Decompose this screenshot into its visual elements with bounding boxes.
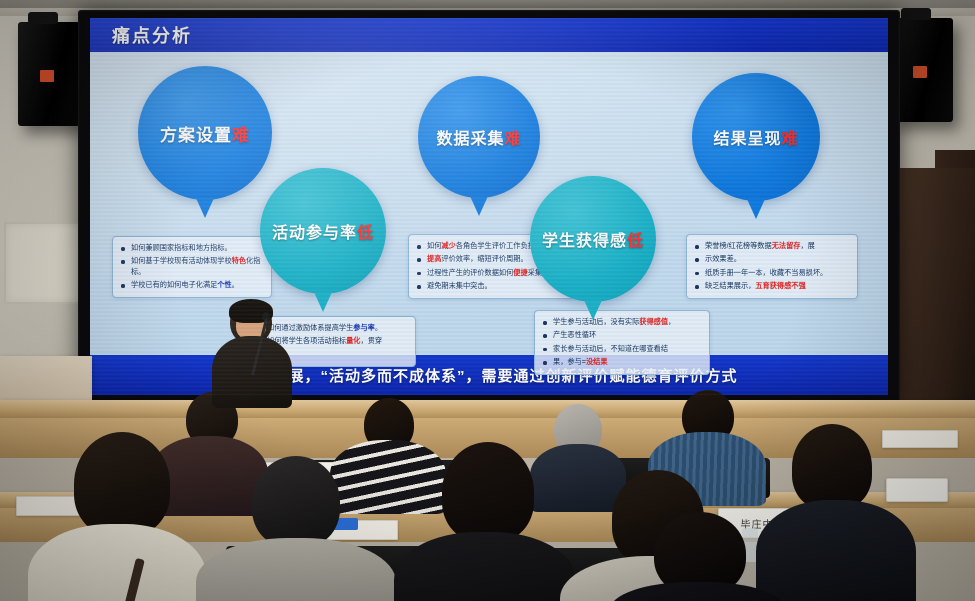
audience-torso bbox=[196, 538, 396, 601]
bullet-run: 特色 bbox=[232, 256, 246, 265]
card-bullet: 示效果差。 bbox=[693, 254, 849, 264]
card-bullet: 如何兼顾国家指标和地方指标。 bbox=[119, 243, 263, 253]
card-bullet: 果，参与=没结果 bbox=[541, 357, 701, 367]
bullet-run: 如何兼顾国家指标和地方指标。 bbox=[131, 243, 232, 252]
bullet-run: 个性 bbox=[217, 280, 231, 289]
bullet-run: 避免期末集中突击。 bbox=[427, 281, 492, 290]
bubble-tail bbox=[470, 196, 488, 216]
bubble-tail bbox=[196, 198, 214, 218]
audience-head bbox=[792, 424, 872, 510]
card-bullet: 学生参与活动后，没有实际获得感值， bbox=[541, 317, 701, 327]
audience-torso bbox=[28, 524, 206, 601]
slide-header-bar: 痛点分析 bbox=[90, 18, 888, 52]
card-plan-setup: 如何兼顾国家指标和地方指标。如何基于学校现有活动体现学校特色化指标。学校已有的如… bbox=[112, 236, 272, 298]
card-bullet-list: 如何兼顾国家指标和地方指标。如何基于学校现有活动体现学校特色化指标。学校已有的如… bbox=[119, 243, 263, 291]
card-bullet: 家长参与活动后，不知道在哪查看结 bbox=[541, 344, 701, 354]
card-student-gain: 学生参与活动后，没有实际获得感值，产生恶性循环家长参与活动后，不知道在哪查看结果… bbox=[534, 310, 710, 375]
bubble-tail bbox=[747, 199, 765, 219]
speaker-brand-logo bbox=[913, 66, 927, 78]
bullet-run: 。 bbox=[232, 280, 239, 289]
audience-torso bbox=[394, 532, 576, 601]
bullet-run: 如何基于学校现有活动体现学校 bbox=[131, 256, 232, 265]
bullet-run: 过程性产生的评价数据如何 bbox=[427, 268, 513, 277]
bullet-run: 产生恶性循环 bbox=[553, 330, 596, 339]
bullet-run: 获得感值 bbox=[639, 317, 668, 326]
bullet-run: ， bbox=[668, 317, 675, 326]
presentation-slide: 痛点分析 方案设置难 活动参与率低 数据采集难 bbox=[90, 18, 888, 395]
bubble-label: 活动参与率低 bbox=[272, 219, 374, 243]
bubble-label: 学生获得感低 bbox=[542, 227, 644, 251]
bullet-run: 减少 bbox=[441, 241, 455, 250]
bubble-result-display: 结果呈现难 bbox=[692, 73, 820, 201]
bubble-activity-participation: 活动参与率低 bbox=[260, 168, 386, 294]
bullet-run: 示效果差。 bbox=[705, 254, 741, 263]
bubble-student-gain: 学生获得感低 bbox=[530, 176, 656, 302]
card-bullet: 产生恶性循环 bbox=[541, 330, 701, 340]
bullet-run: 学校已有的如何电子化满足 bbox=[131, 280, 217, 289]
bubble-label: 数据采集难 bbox=[436, 125, 521, 149]
bullet-run: 没结果 bbox=[586, 357, 608, 366]
bullet-run: 提高 bbox=[427, 254, 441, 263]
wall-speaker-left bbox=[18, 22, 80, 126]
presenter bbox=[212, 300, 292, 408]
audience-head bbox=[74, 432, 170, 536]
audience-front-3 bbox=[394, 442, 576, 601]
bullet-run: 参与率 bbox=[353, 323, 375, 332]
bubble-tail bbox=[314, 292, 332, 312]
bullet-run: ，贯穿 bbox=[360, 336, 382, 345]
speaker-brand-logo bbox=[40, 70, 54, 82]
ceiling-shadow bbox=[0, 0, 975, 8]
right-door bbox=[897, 168, 975, 430]
card-bullet-list: 荣誉榜/红花榜等数据无法留存，展示效果差。纸质手册一年一本，收藏不当易损坏。缺乏… bbox=[693, 241, 849, 292]
wall-speaker-right bbox=[891, 18, 953, 122]
bullet-run: 缺乏结果展示， bbox=[705, 281, 755, 290]
card-bullet: 学校已有的如何电子化满足个性。 bbox=[119, 280, 263, 290]
card-result-display: 荣誉榜/红花榜等数据无法留存，展示效果差。纸质手册一年一本，收藏不当易损坏。缺乏… bbox=[686, 234, 858, 299]
card-bullet: 缺乏结果展示，五育获得感不强 bbox=[693, 281, 849, 291]
card-bullet: 避免期末集中突击。 bbox=[415, 281, 567, 291]
bullet-run: 五育获得感不强 bbox=[755, 281, 805, 290]
desk-row-back bbox=[0, 400, 975, 418]
bullet-run: 如何 bbox=[427, 241, 441, 250]
bubble-data-collection: 数据采集难 bbox=[418, 76, 540, 198]
bullet-run: ，展 bbox=[800, 241, 814, 250]
card-bullet: 荣誉榜/红花榜等数据无法留存，展 bbox=[693, 241, 849, 251]
audience-head bbox=[252, 456, 340, 548]
bubble-plan-setup: 方案设置难 bbox=[138, 66, 272, 200]
bullet-run: 家长参与活动后，不知道在哪查看结 bbox=[553, 344, 668, 353]
bullet-run: 荣誉榜/红花榜等数据 bbox=[705, 241, 772, 250]
speaker-bracket bbox=[901, 8, 931, 20]
slide-title: 痛点分析 bbox=[112, 22, 192, 48]
bullet-run: 评价效率，缩短评价周期。 bbox=[441, 254, 527, 263]
audience-torso bbox=[610, 582, 786, 601]
bubble-label: 方案设置难 bbox=[160, 121, 250, 146]
bullet-run: 无法留存 bbox=[772, 241, 801, 250]
audience-front-2 bbox=[196, 456, 396, 601]
audience-front-6 bbox=[610, 512, 786, 601]
speaker-bracket bbox=[28, 12, 58, 24]
bullet-run: 量化 bbox=[346, 336, 360, 345]
bullet-run: 便捷 bbox=[513, 268, 527, 277]
conference-room-photo: 痛点分析 方案设置难 活动参与率低 数据采集难 bbox=[0, 0, 975, 601]
bubble-label: 结果呈现难 bbox=[713, 125, 798, 149]
audience-front-1 bbox=[28, 432, 206, 601]
display-screen-bezel: 痛点分析 方案设置难 活动参与率低 数据采集难 bbox=[78, 10, 900, 405]
slide-footer-bar: 均已开展，“活动多而不成体系”，需要通过创新评价赋能德育评价方式 bbox=[90, 355, 888, 395]
bullet-run: 果，参与= bbox=[553, 357, 586, 366]
card-bullet: 如何基于学校现有活动体现学校特色化指标。 bbox=[119, 256, 263, 277]
bullet-run: 。 bbox=[375, 323, 382, 332]
bubble-tail bbox=[584, 300, 602, 320]
card-bullet-list: 学生参与活动后，没有实际获得感值，产生恶性循环家长参与活动后，不知道在哪查看结果… bbox=[541, 317, 701, 368]
card-bullet: 纸质手册一年一本，收藏不当易损坏。 bbox=[693, 268, 849, 278]
bullet-run: 纸质手册一年一本，收藏不当易损坏。 bbox=[705, 268, 827, 277]
audience-head bbox=[442, 442, 534, 542]
